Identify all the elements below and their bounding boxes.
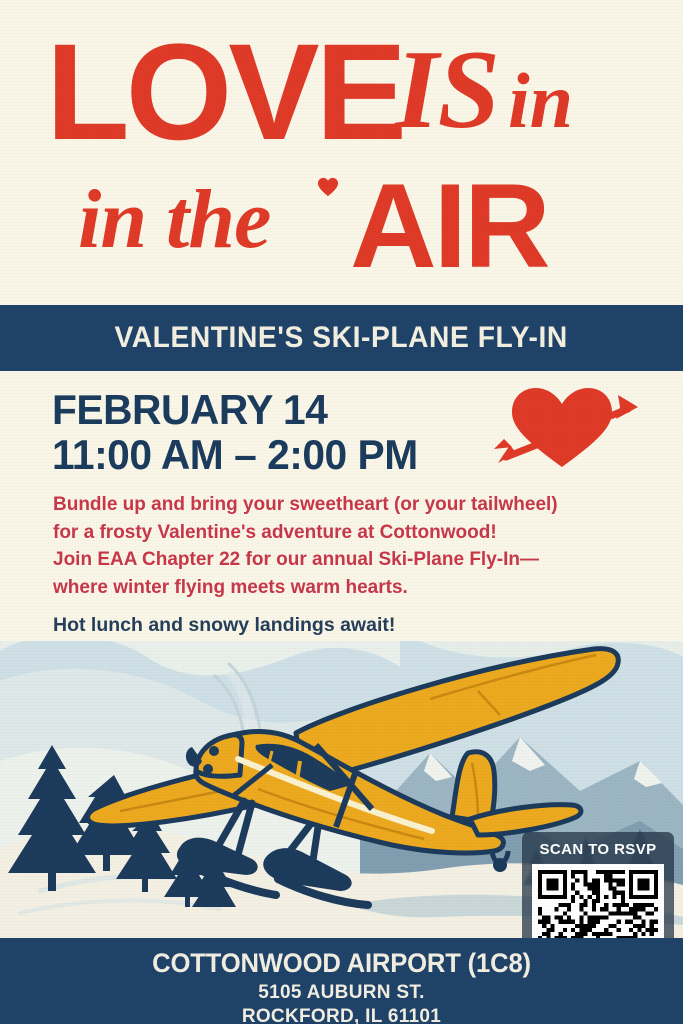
body-line: for a frosty Valentine's adventure at Co…	[53, 519, 643, 547]
headline-section: LOVE IS in in the AIR	[0, 0, 683, 300]
qr-label: SCAN TO RSVP	[532, 841, 664, 858]
subtitle-banner: VALENTINE'S SKI-PLANE FLY-IN	[0, 305, 683, 371]
heart-accent-icon	[317, 177, 339, 197]
body-line: Join EAA Chapter 22 for our annual Ski-P…	[53, 546, 643, 574]
headline-word-love: LOVE	[46, 24, 403, 161]
date-time-block: FEBRUARY 14 11:00 AM – 2:00 PM	[52, 388, 429, 477]
event-info-section: FEBRUARY 14 11:00 AM – 2:00 PM Bundle up…	[0, 371, 683, 641]
headline-word-in-the: in the	[78, 178, 270, 262]
venue-city: ROCKFORD, IL 61101	[0, 1006, 683, 1024]
venue-street: 5105 AUBURN ST.	[0, 982, 683, 1004]
headline-word-is: IS	[395, 34, 499, 146]
footer-address-section: COTTONWOOD AIRPORT (1C8) 5105 AUBURN ST.…	[0, 938, 683, 1024]
venue-name: COTTONWOOD AIRPORT (1C8)	[17, 948, 666, 979]
headline-word-air: AIR	[350, 166, 548, 286]
highlight-text: Hot lunch and snowy landings await!	[53, 614, 395, 637]
body-line: Bundle up and bring your sweetheart (or …	[53, 491, 643, 519]
event-date: FEBRUARY 14	[52, 388, 418, 433]
body-paragraph: Bundle up and bring your sweetheart (or …	[53, 491, 643, 601]
poster-canvas: LOVE IS in in the AIR VALENTINE'S SKI-PL…	[0, 0, 683, 1024]
subtitle-text: VALENTINE'S SKI-PLANE FLY-IN	[115, 321, 568, 355]
body-line: where winter flying meets warm hearts.	[53, 574, 643, 602]
event-time: 11:00 AM – 2:00 PM	[52, 433, 418, 478]
headline-word-in: in	[508, 62, 573, 140]
heart-with-arrow-icon	[492, 383, 642, 471]
